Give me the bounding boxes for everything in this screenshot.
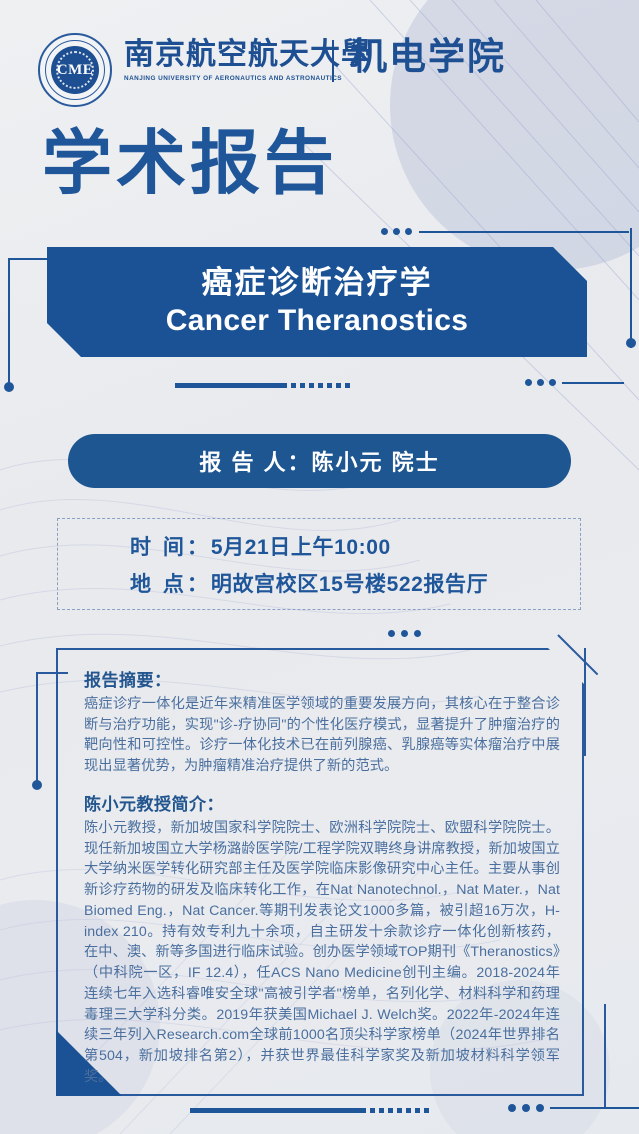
event-time-label: 时 间： xyxy=(130,536,211,559)
university-name-en: NANJING UNIVERSITY OF AERONAUTICS AND AS… xyxy=(124,75,372,82)
event-place-label: 地 点： xyxy=(130,573,211,596)
decoration-bracket-right xyxy=(588,228,632,348)
event-place-value: 明故宫校区15号楼522报告厅 xyxy=(211,573,488,596)
decoration-dash-row xyxy=(175,383,350,388)
event-time-value: 5月21日上午10:00 xyxy=(211,536,391,559)
decoration-dots-right xyxy=(525,379,624,386)
poster-root: CME 南京航空航天大學 NANJING UNIVERSITY OF AERON… xyxy=(0,0,639,1134)
university-logo: CME xyxy=(38,33,112,107)
decoration-rule-bottom-right xyxy=(604,1004,606,1108)
header-divider xyxy=(332,40,334,82)
school-name: 机电学院 xyxy=(350,38,506,79)
decoration-node-right xyxy=(626,338,636,348)
decoration-node-left xyxy=(4,382,14,392)
university-name-cn: 南京航空航天大學 xyxy=(124,40,372,70)
decoration-dots-bottom-right xyxy=(508,1104,639,1112)
decoration-dash-bottom xyxy=(190,1108,429,1113)
university-name-block: 南京航空航天大學 NANJING UNIVERSITY OF AERONAUTI… xyxy=(124,40,372,82)
poster-header: CME 南京航空航天大學 NANJING UNIVERSITY OF AERON… xyxy=(0,0,639,120)
event-info-box: 时 间：5月21日上午10:00 地 点：明故宫校区15号楼522报告厅 xyxy=(57,518,581,610)
event-place-row: 地 点：明故宫校区15号楼522报告厅 xyxy=(130,568,580,598)
abstract-body: 癌症诊疗一体化是近年来精准医学领域的重要发展方向，其核心在于整合诊断与治疗功能，… xyxy=(84,694,560,777)
lecture-title-cn: 癌症诊断治疗学 xyxy=(202,265,433,302)
abstract-title: 报告摘要： xyxy=(84,666,560,691)
lecture-title-banner: 癌症诊断治疗学 Cancer Theranostics xyxy=(47,247,587,357)
speaker-pill: 报 告 人：陈小元 院士 xyxy=(68,434,571,488)
lecture-title-en: Cancer Theranostics xyxy=(166,303,468,339)
page-title: 学术报告 xyxy=(42,128,338,198)
decoration-dots-middle xyxy=(388,630,421,637)
seal-letters: CME xyxy=(38,33,112,107)
decoration-bracket-content-left xyxy=(26,672,60,792)
decoration-chamfer-content-right xyxy=(584,648,630,768)
event-time-row: 时 间：5月21日上午10:00 xyxy=(130,531,580,561)
bio-body: 陈小元教授，新加坡国家科学院院士、欧洲科学院院士、欧盟科学院院士。现任新加坡国立… xyxy=(84,818,560,1088)
decoration-dots-top xyxy=(381,228,412,235)
content-box-body: 报告摘要： 癌症诊疗一体化是近年来精准医学领域的重要发展方向，其核心在于整合诊断… xyxy=(58,650,582,1094)
decoration-bracket-left xyxy=(8,258,48,388)
bio-title: 陈小元教授简介： xyxy=(84,790,560,815)
